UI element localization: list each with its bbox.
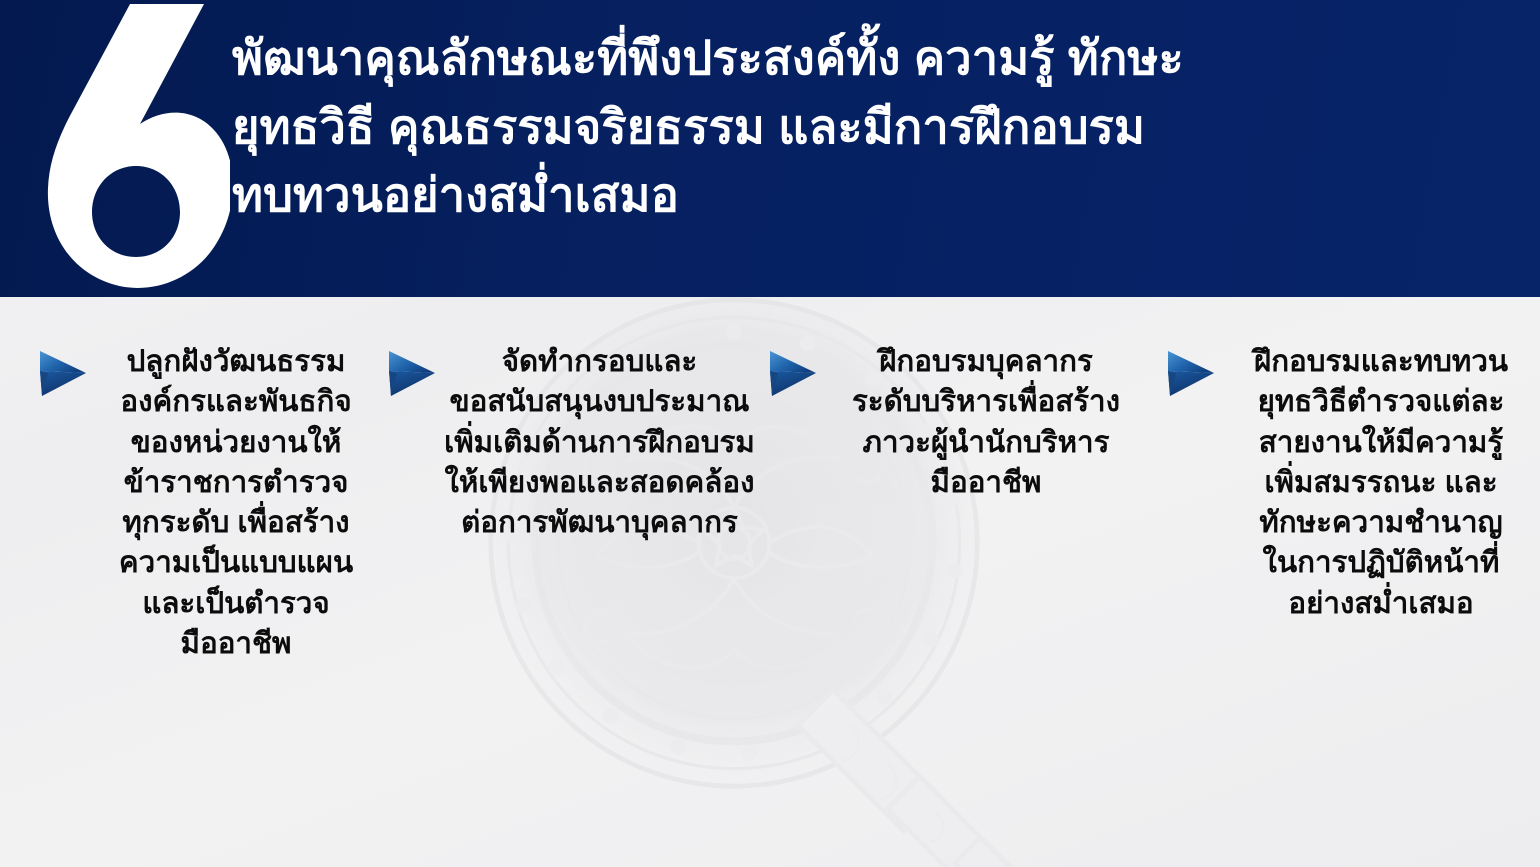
page-title: พัฒนาคุณลักษณะที่พึงประสงค์ทั้ง ความรู้ … xyxy=(232,24,1502,230)
bullet-column-1-text: ปลูกฝังวัฒนธรรม องค์กรและพันธกิจ ของหน่ว… xyxy=(94,340,378,664)
arrow-chevron-icon xyxy=(1162,346,1220,402)
bullet-column-1: ปลูกฝังวัฒนธรรม องค์กรและพันธกิจ ของหน่ว… xyxy=(0,340,378,664)
bullet-column-4-text: ฝึกอบรมและทบทวน ยุทธวิธีตำรวจแต่ละ สายงา… xyxy=(1222,340,1540,624)
bullet-column-2: จัดทำกรอบและ ขอสนับสนุนงบประมาณ เพิ่มเติ… xyxy=(378,340,756,543)
arrow-chevron-icon xyxy=(34,346,92,402)
bullet-columns: ปลูกฝังวัฒนธรรม องค์กรและพันธกิจ ของหน่ว… xyxy=(0,340,1540,800)
bullet-column-3-text: ฝึกอบรมบุคลากร ระดับบริหารเพื่อสร้าง ภาว… xyxy=(824,340,1148,503)
bullet-column-2-text: จัดทำกรอบและ ขอสนับสนุนงบประมาณ เพิ่มเติ… xyxy=(443,340,756,543)
slide-number-6 xyxy=(44,0,230,296)
arrow-chevron-icon xyxy=(383,346,441,402)
slide-root: พัฒนาคุณลักษณะที่พึงประสงค์ทั้ง ความรู้ … xyxy=(0,0,1540,867)
arrow-chevron-icon xyxy=(764,346,822,402)
header-band: พัฒนาคุณลักษณะที่พึงประสงค์ทั้ง ความรู้ … xyxy=(0,0,1540,297)
bullet-column-4: ฝึกอบรมและทบทวน ยุทธวิธีตำรวจแต่ละ สายงา… xyxy=(1148,340,1540,624)
bullet-column-3: ฝึกอบรมบุคลากร ระดับบริหารเพื่อสร้าง ภาว… xyxy=(756,340,1148,503)
